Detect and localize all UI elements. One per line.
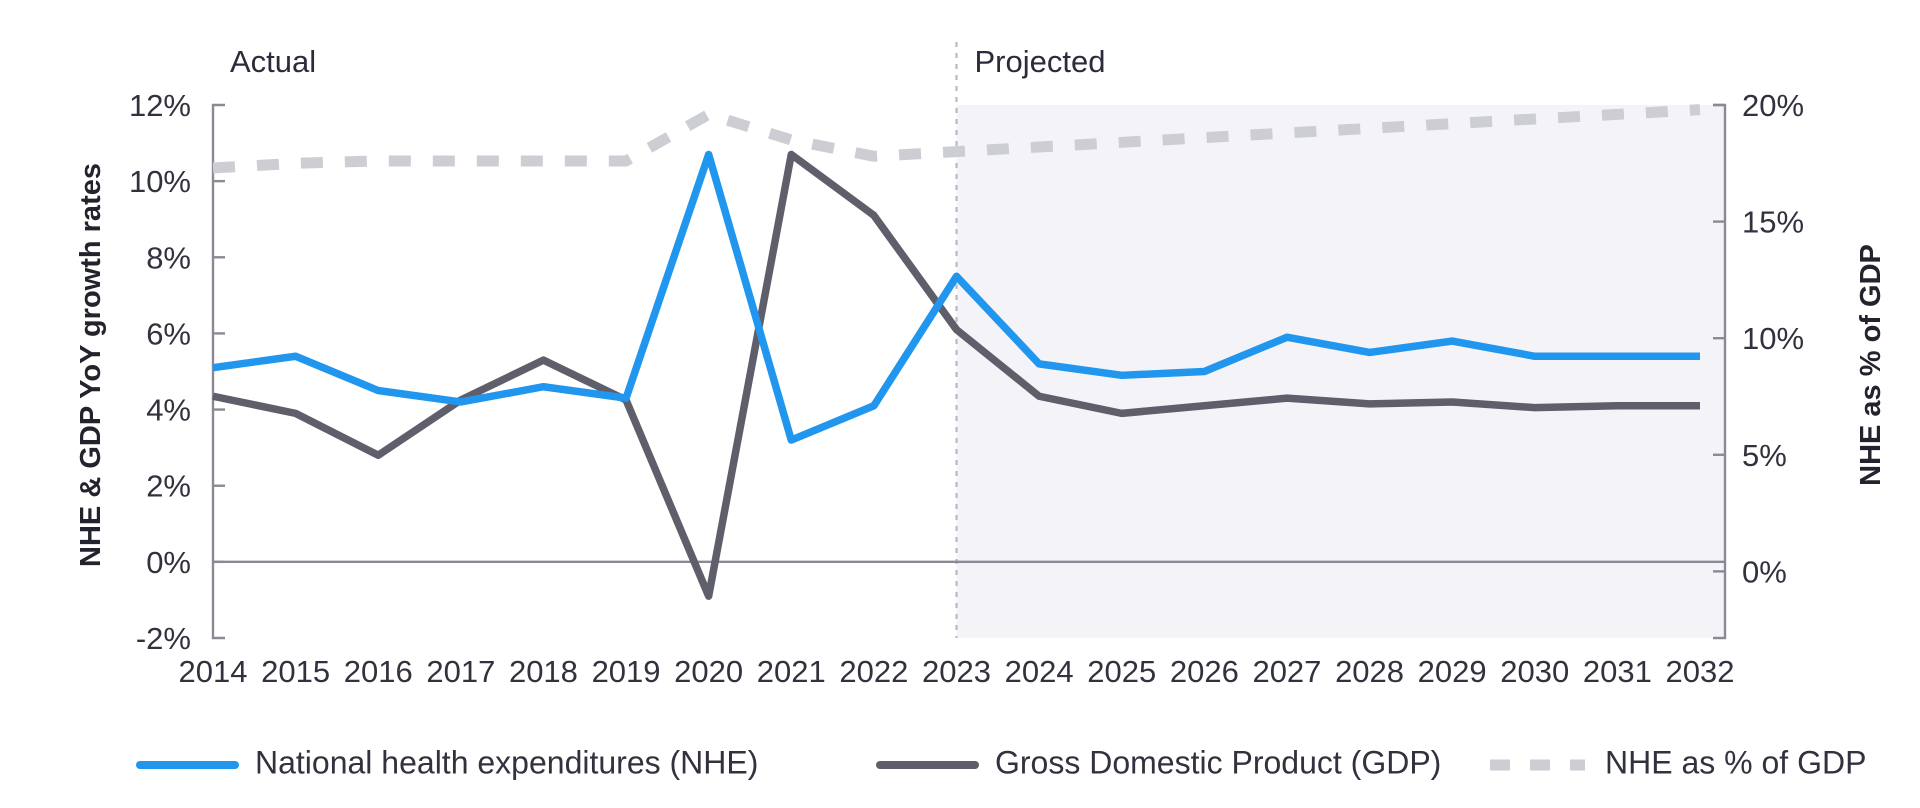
right-y-axis: 0%5%10%15%20% bbox=[1713, 88, 1804, 638]
legend-item[interactable]: Gross Domestic Product (GDP) bbox=[880, 744, 1441, 780]
y-tick-label: 2% bbox=[146, 469, 191, 504]
projected-region-label: Projected bbox=[975, 44, 1106, 79]
legend-item-label: Gross Domestic Product (GDP) bbox=[995, 744, 1441, 780]
chart-container: Actual Projected -2%0%2%4%6%8%10%12% 0%5… bbox=[0, 0, 1920, 808]
y-tick-label: 4% bbox=[146, 393, 191, 428]
x-axis-labels: 2014201520162017201820192020202120222023… bbox=[179, 654, 1735, 689]
x-tick-label: 2020 bbox=[674, 654, 743, 689]
legend-item[interactable]: National health expenditures (NHE) bbox=[140, 744, 758, 780]
x-tick-label: 2030 bbox=[1500, 654, 1569, 689]
y2-tick-label: 10% bbox=[1742, 321, 1804, 356]
y2-tick-label: 15% bbox=[1742, 205, 1804, 240]
legend-item-label: NHE as % of GDP bbox=[1605, 744, 1866, 780]
growth-rates-line-chart: Actual Projected -2%0%2%4%6%8%10%12% 0%5… bbox=[0, 0, 1920, 808]
legend-item-label: National health expenditures (NHE) bbox=[255, 744, 758, 780]
chart-legend: National health expenditures (NHE)Gross … bbox=[140, 744, 1866, 780]
x-tick-label: 2019 bbox=[592, 654, 661, 689]
x-tick-label: 2031 bbox=[1583, 654, 1652, 689]
legend-item[interactable]: NHE as % of GDP bbox=[1490, 744, 1866, 780]
x-tick-label: 2021 bbox=[757, 654, 826, 689]
x-tick-label: 2024 bbox=[1005, 654, 1074, 689]
y-tick-label: 6% bbox=[146, 316, 191, 351]
left-y-axis: -2%0%2%4%6%8%10%12% bbox=[129, 88, 225, 656]
y-tick-label: 10% bbox=[129, 164, 191, 199]
x-tick-label: 2032 bbox=[1666, 654, 1735, 689]
x-tick-label: 2015 bbox=[261, 654, 330, 689]
y-tick-label: 12% bbox=[129, 88, 191, 123]
left-axis-title: NHE & GDP YoY growth rates bbox=[75, 163, 107, 567]
x-tick-label: 2022 bbox=[839, 654, 908, 689]
x-tick-label: 2014 bbox=[179, 654, 248, 689]
x-tick-label: 2028 bbox=[1335, 654, 1404, 689]
right-axis-title: NHE as % of GDP bbox=[1855, 244, 1887, 486]
actual-region-label: Actual bbox=[230, 44, 316, 79]
x-tick-label: 2018 bbox=[509, 654, 578, 689]
y2-tick-label: 20% bbox=[1742, 88, 1804, 123]
y2-tick-label: 0% bbox=[1742, 554, 1787, 589]
x-tick-label: 2027 bbox=[1252, 654, 1321, 689]
x-tick-label: 2025 bbox=[1087, 654, 1156, 689]
x-tick-label: 2029 bbox=[1418, 654, 1487, 689]
y2-tick-label: 5% bbox=[1742, 438, 1787, 473]
x-tick-label: 2017 bbox=[426, 654, 495, 689]
x-tick-label: 2023 bbox=[922, 654, 991, 689]
x-tick-label: 2016 bbox=[344, 654, 413, 689]
x-tick-label: 2026 bbox=[1170, 654, 1239, 689]
y-tick-label: 8% bbox=[146, 240, 191, 275]
y-tick-label: 0% bbox=[146, 545, 191, 580]
y-tick-label: -2% bbox=[136, 621, 191, 656]
